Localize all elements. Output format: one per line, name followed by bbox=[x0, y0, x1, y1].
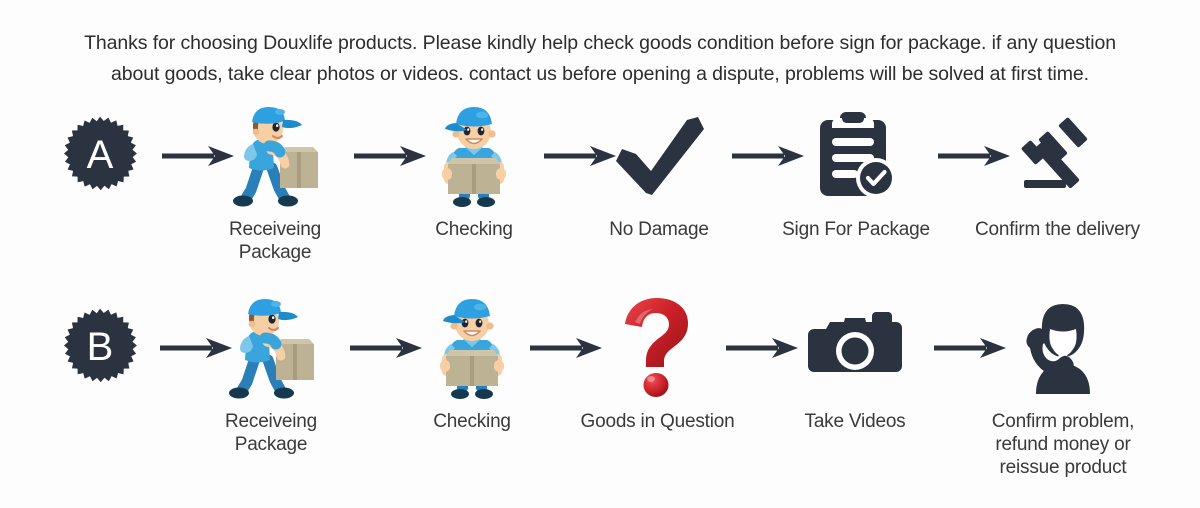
shipping-process-infographic: Thanks for choosing Douxlife products. P… bbox=[0, 0, 1200, 508]
gavel-icon bbox=[1016, 114, 1100, 198]
notice-text: Thanks for choosing Douxlife products. P… bbox=[50, 28, 1150, 90]
step-a-1-label: Receiveing Package bbox=[200, 218, 350, 264]
step-b-4-label: Take Videos bbox=[785, 410, 925, 433]
badge-a-iconbox: A bbox=[40, 100, 160, 212]
step-a-2: Checking bbox=[404, 100, 544, 270]
badge-b-letter: B bbox=[87, 327, 114, 369]
camera-icon bbox=[808, 311, 902, 385]
support-agent-icon bbox=[1020, 302, 1106, 394]
step-a-2-iconbox bbox=[404, 100, 544, 212]
badge-b-iconbox: B bbox=[40, 292, 160, 404]
step-a-3-iconbox bbox=[593, 100, 725, 212]
step-b-5-iconbox bbox=[968, 292, 1158, 404]
process-row-a: A bbox=[0, 100, 1200, 270]
step-b-5-label: Confirm problem, refund money or reissue… bbox=[968, 410, 1158, 479]
badge-a: A bbox=[59, 115, 141, 197]
delivery-standing-icon bbox=[428, 100, 520, 212]
delivery-standing-icon bbox=[426, 292, 518, 404]
question-mark-icon bbox=[621, 296, 695, 400]
step-a-1-iconbox bbox=[200, 100, 350, 212]
step-a-1: Receiveing Package bbox=[200, 100, 350, 270]
step-a-5: Confirm the delivery bbox=[965, 100, 1150, 270]
badge-b: B bbox=[59, 307, 141, 389]
step-a-3-label: No Damage bbox=[593, 218, 725, 241]
step-a-5-label: Confirm the delivery bbox=[965, 218, 1150, 241]
step-b-1-iconbox bbox=[196, 292, 346, 404]
step-b-1: Receiveing Package bbox=[196, 292, 346, 462]
step-b-1-label: Receiveing Package bbox=[196, 410, 346, 456]
step-a-4: Sign For Package bbox=[780, 100, 932, 270]
notice-line-1: Thanks for choosing Douxlife products. P… bbox=[50, 28, 1150, 59]
clipboard-check-icon bbox=[816, 112, 896, 200]
step-b-4: Take Videos bbox=[785, 292, 925, 462]
checkmark-icon bbox=[608, 113, 710, 199]
step-b-5: Confirm problem, refund money or reissue… bbox=[968, 292, 1158, 462]
badge-cell-b: B bbox=[40, 292, 160, 462]
step-a-5-iconbox bbox=[965, 100, 1150, 212]
step-b-4-iconbox bbox=[785, 292, 925, 404]
process-row-b: B bbox=[0, 292, 1200, 462]
badge-a-letter: A bbox=[87, 135, 114, 177]
delivery-walking-icon bbox=[223, 100, 327, 212]
badge-cell-a: A bbox=[40, 100, 160, 270]
step-a-4-label: Sign For Package bbox=[780, 218, 932, 241]
step-a-3: No Damage bbox=[593, 100, 725, 270]
notice-line-2: about goods, take clear photos or videos… bbox=[50, 59, 1150, 90]
step-a-2-label: Checking bbox=[404, 218, 544, 241]
step-a-4-iconbox bbox=[780, 100, 932, 212]
delivery-walking-icon bbox=[219, 292, 323, 404]
